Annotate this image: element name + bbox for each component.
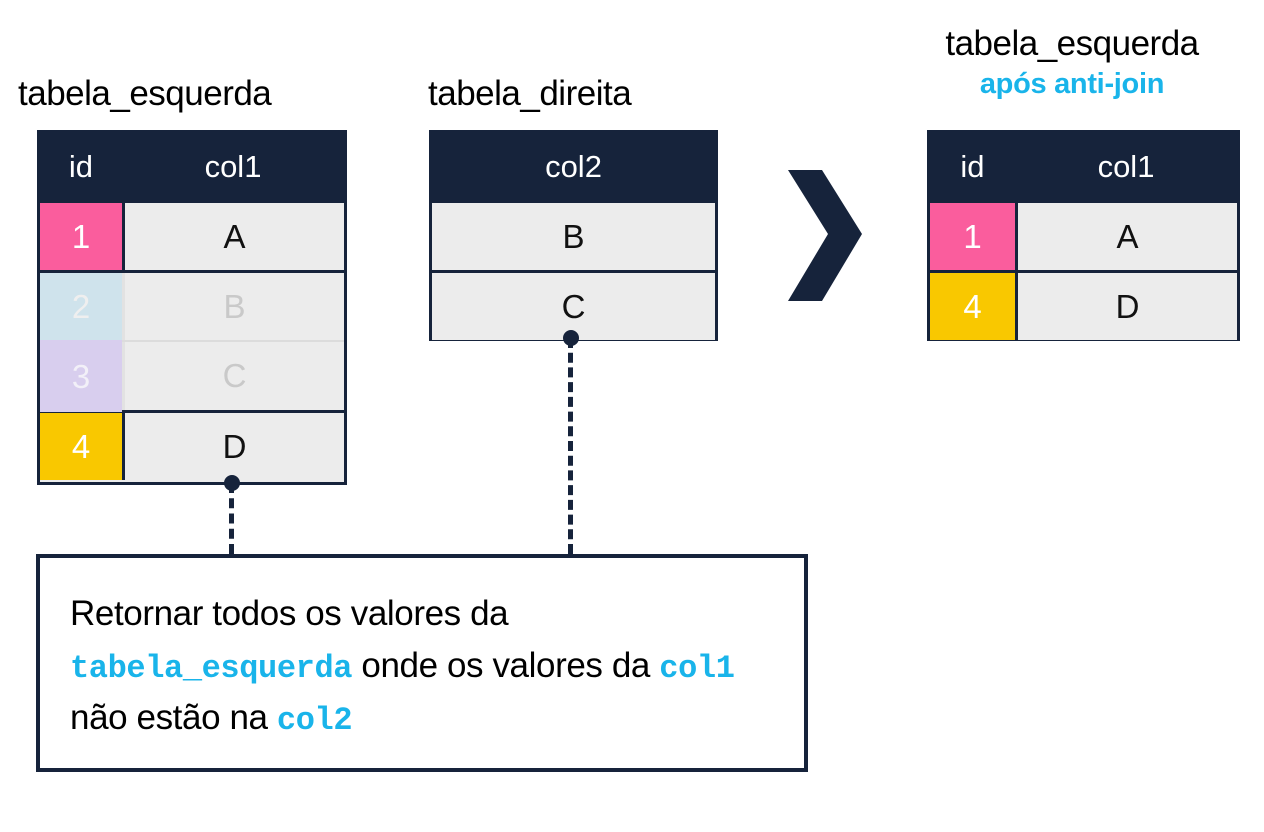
right-header-col1: col1	[1015, 151, 1237, 182]
middle-table: col2 B C	[429, 130, 718, 341]
left-row-1-id: 1	[40, 203, 122, 270]
left-row-4-id: 4	[40, 413, 122, 480]
right-row-2-id: 4	[930, 273, 1015, 340]
caption-segment-4: não estão na	[70, 698, 277, 737]
diagram-canvas: tabela_esquerda tabela_direita tabela_es…	[0, 0, 1264, 832]
chevron-right-icon	[784, 168, 864, 303]
right-table-title-main: tabela_esquerda	[880, 24, 1264, 63]
left-header-col1: col1	[122, 151, 344, 182]
right-row-2-value: D	[1015, 273, 1237, 340]
middle-table-header-row: col2	[432, 133, 715, 200]
caption-text: Retornar todos os valores da tabela_esqu…	[70, 588, 785, 745]
left-row-1-value: A	[122, 203, 344, 270]
right-row-1-id: 1	[930, 203, 1015, 270]
right-header-id: id	[930, 151, 1015, 182]
left-header-id: id	[40, 151, 122, 182]
right-table-header-row: id col1	[930, 133, 1237, 200]
left-table-header-row: id col1	[40, 133, 344, 200]
caption-segment-3: col1	[659, 650, 734, 687]
caption-segment-5: col2	[277, 702, 352, 739]
left-row-3-id: 3	[40, 340, 122, 412]
right-table-title-sub: após anti-join	[880, 68, 1264, 100]
left-row-3-value: C	[122, 342, 344, 410]
middle-header-col2: col2	[432, 151, 715, 182]
table-row: 2 B	[40, 270, 344, 340]
table-row: B	[432, 200, 715, 270]
left-row-4-value: D	[122, 413, 344, 480]
right-row-1-value: A	[1015, 203, 1237, 270]
left-row-2-id: 2	[40, 273, 122, 340]
caption-segment-2: onde os valores da	[352, 646, 659, 685]
left-table: id col1 1 A 2 B 3 C 4 D	[37, 130, 347, 485]
table-row: 4 D	[930, 270, 1237, 340]
connector-line-left	[229, 483, 234, 554]
connector-line-middle	[568, 338, 573, 554]
middle-row-1-value: B	[432, 203, 715, 270]
table-row: 1 A	[40, 200, 344, 270]
caption-segment-0: Retornar todos os valores da	[70, 594, 508, 633]
table-row: 3 C	[40, 340, 344, 410]
right-table: id col1 1 A 4 D	[927, 130, 1240, 341]
left-row-2-value: B	[122, 273, 344, 340]
middle-table-title: tabela_direita	[428, 76, 631, 111]
caption-segment-1: tabela_esquerda	[70, 650, 352, 687]
caption-box: Retornar todos os valores da tabela_esqu…	[36, 554, 808, 772]
right-table-title: tabela_esquerda após anti-join	[880, 24, 1264, 101]
table-row: 1 A	[930, 200, 1237, 270]
left-table-title: tabela_esquerda	[18, 76, 271, 111]
table-row: 4 D	[40, 410, 344, 480]
